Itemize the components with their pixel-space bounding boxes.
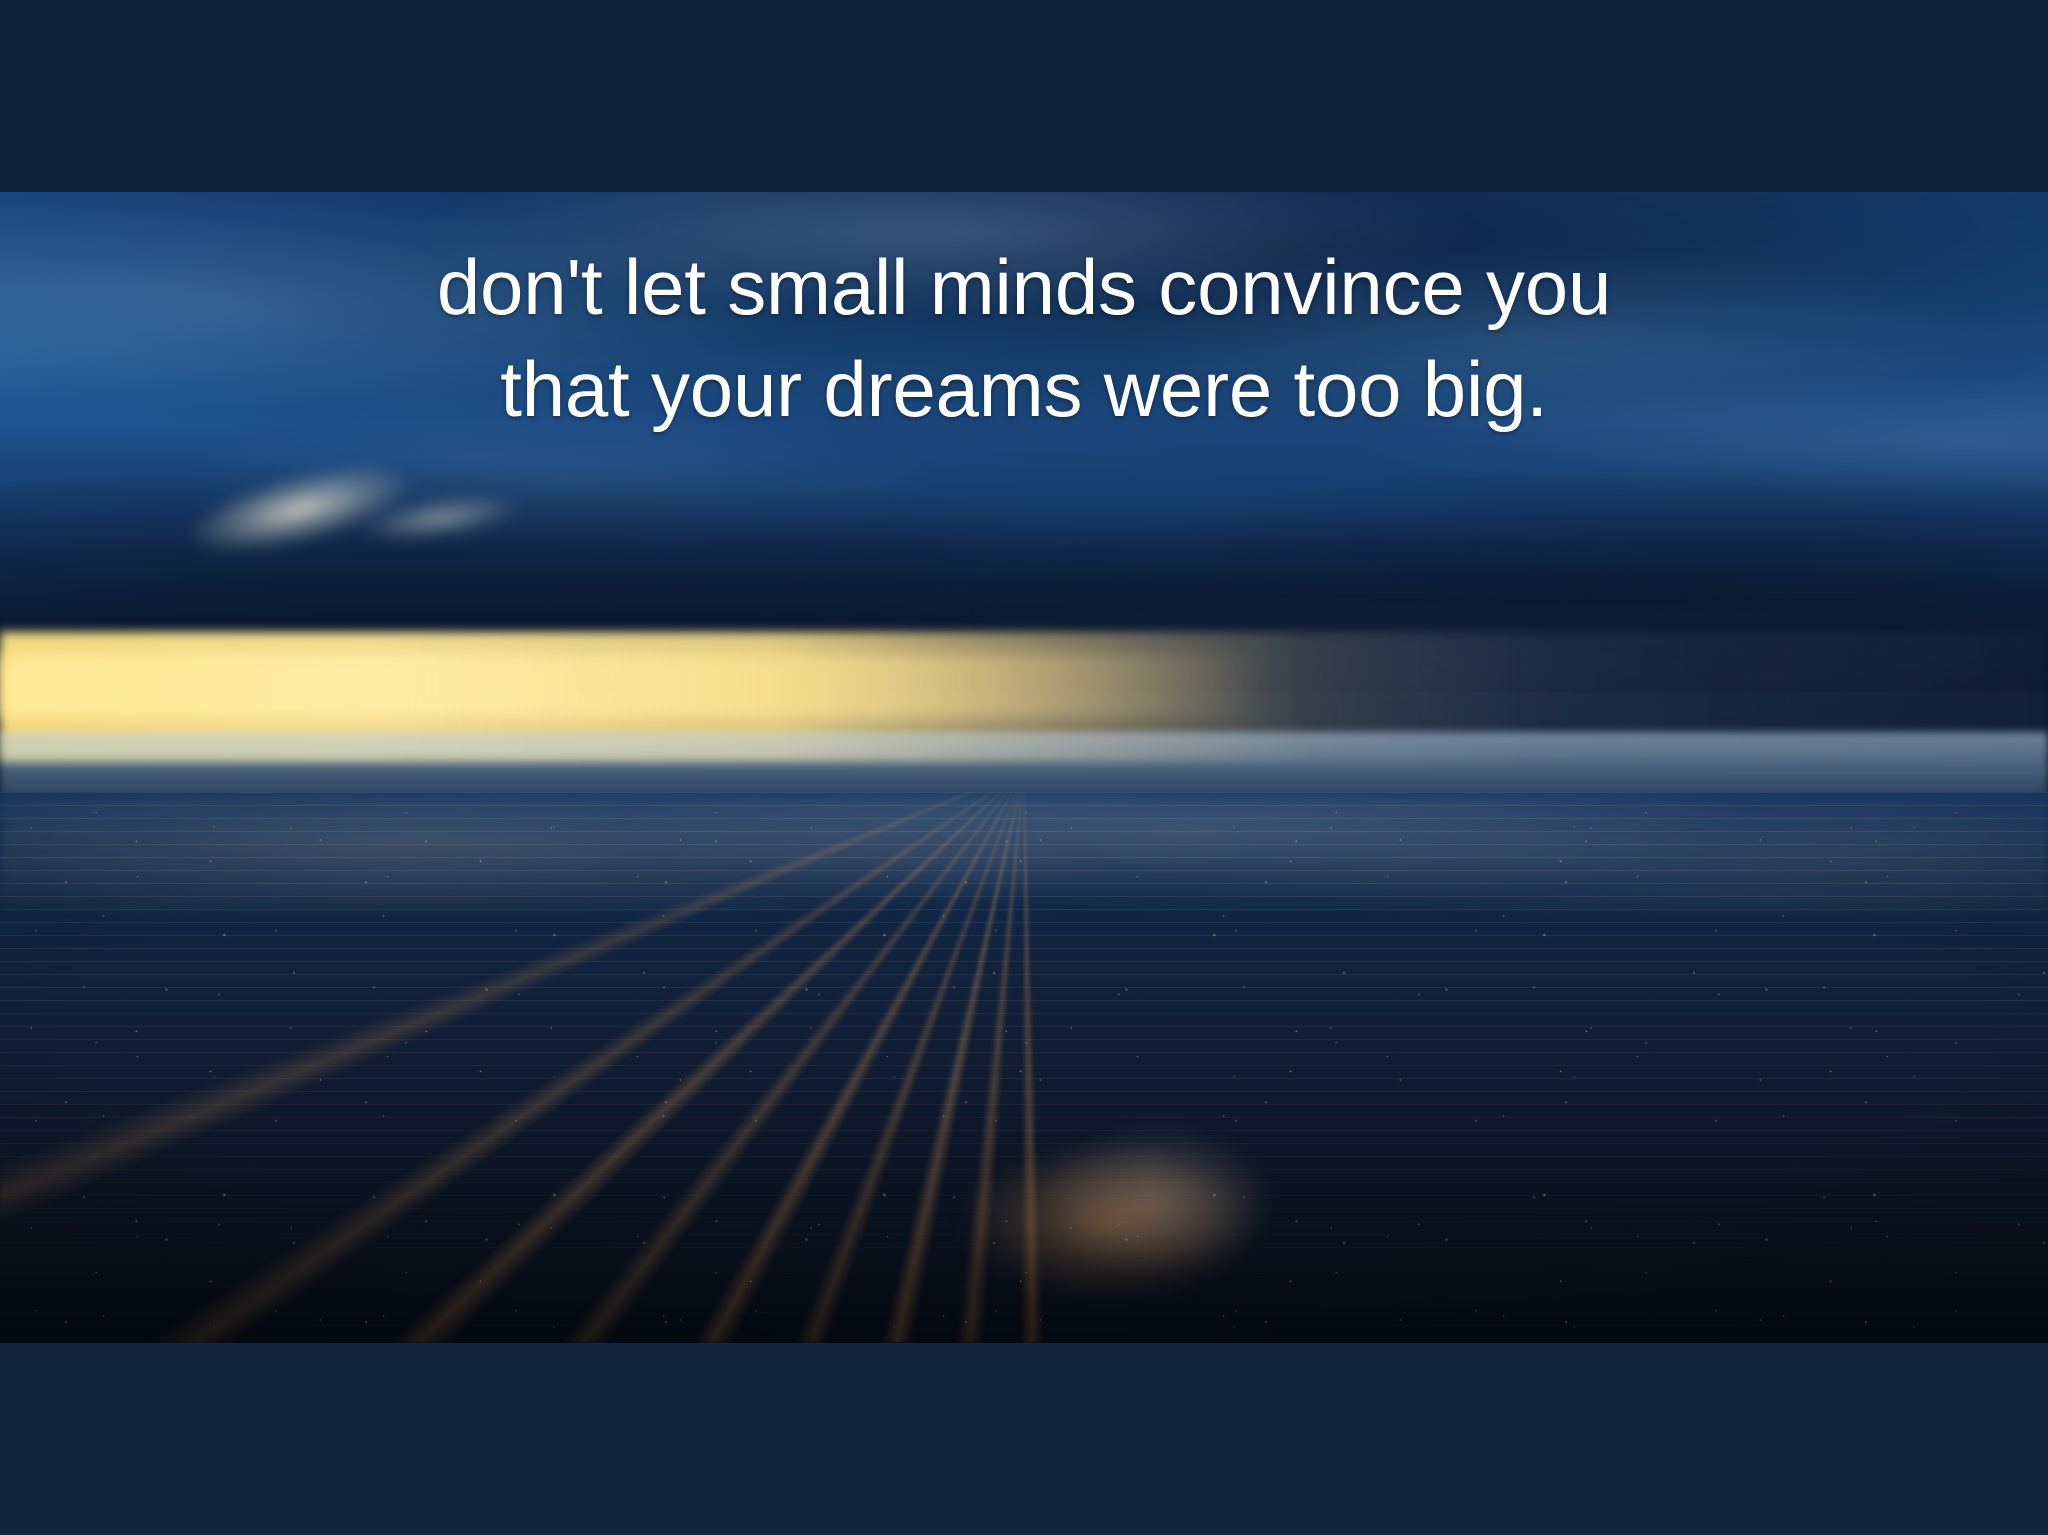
photo-vignette bbox=[0, 792, 2048, 1343]
quote-line-1: don't let small minds convince you bbox=[0, 248, 2048, 328]
sunset-glow-core bbox=[0, 654, 1270, 718]
quote-line-2: that your dreams were too big. bbox=[0, 350, 2048, 430]
letterbox-bar-bottom bbox=[0, 1343, 2048, 1535]
presentation-slide: don't let small minds convince you that … bbox=[0, 0, 2048, 1535]
letterbox-bar-top bbox=[0, 0, 2048, 192]
quote-text: don't let small minds convince you that … bbox=[0, 248, 2048, 429]
city-layer bbox=[0, 792, 2048, 1343]
